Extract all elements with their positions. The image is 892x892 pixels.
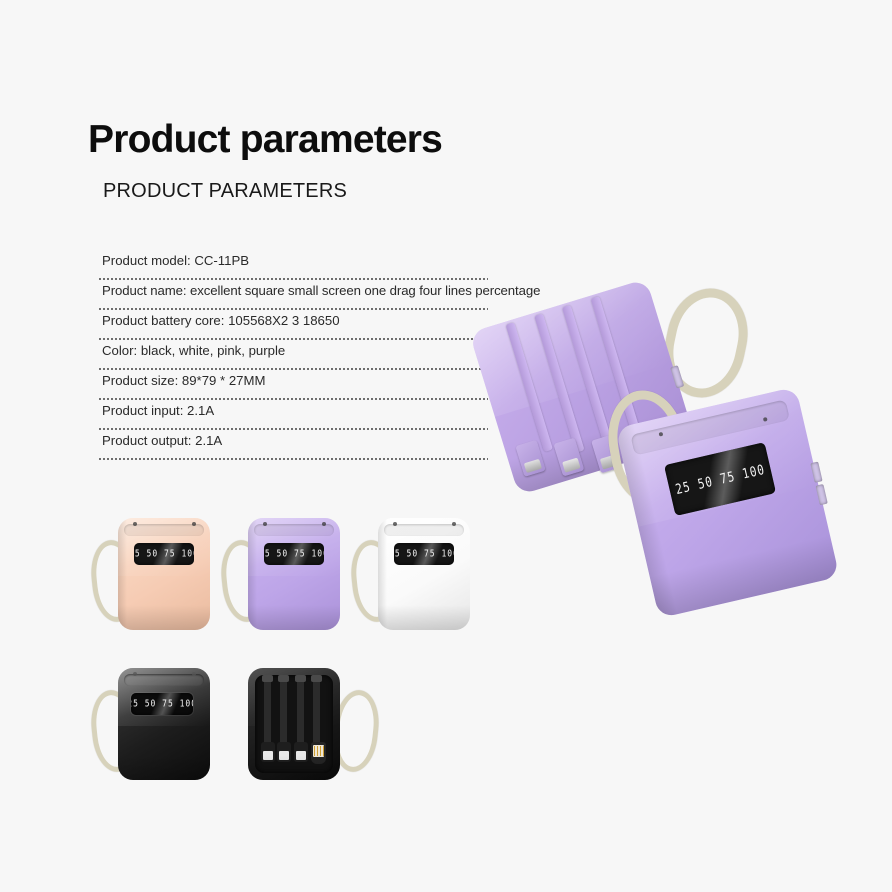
connector-tip-gold-usb: [311, 742, 326, 764]
product-body: 25 50 75 100: [248, 518, 340, 630]
page-subtitle: PRODUCT PARAMETERS: [103, 180, 347, 203]
hero-product-photo: 25 50 75 100: [470, 280, 890, 680]
spec-battery-core: Product battery core: 105568X2 3 18650: [98, 310, 488, 332]
page-title: Product parameters: [88, 118, 442, 162]
left-shading: [615, 424, 677, 618]
battery-percentage-display: 25 50 75 100: [664, 442, 777, 517]
product-unit-front-purple: 25 50 75 100: [615, 387, 839, 619]
connector-tip-silver: [277, 742, 291, 762]
spec-row: Product battery core: 105568X2 3 18650: [98, 310, 488, 340]
bottom-shading: [248, 605, 340, 630]
battery-percentage-display: 25 50 75 100: [394, 543, 455, 565]
spec-size: Product size: 89*79 * 27MM: [98, 370, 488, 392]
product-body: 25 50 75 100: [615, 387, 839, 619]
bottom-shading: [378, 605, 470, 630]
spec-row: Color: black, white, pink, purple: [98, 340, 488, 370]
anchor-notch: [295, 675, 306, 682]
spec-divider: [98, 458, 488, 460]
anchor-notch: [262, 675, 273, 682]
product-variant-white: 25 50 75 100: [378, 518, 470, 630]
product-body: 25 50 75 100: [118, 668, 210, 780]
cable-channel: [264, 678, 271, 747]
product-variant-black-rear: [248, 668, 340, 780]
product-body: 25 50 75 100: [378, 518, 470, 630]
spec-name: Product name: excellent square small scr…: [98, 280, 488, 302]
battery-percentage-display: 25 50 75 100: [264, 543, 325, 565]
display-readout: 25 50 75 100: [131, 698, 194, 709]
spec-row: Product name: excellent square small scr…: [98, 280, 488, 310]
spec-output: Product output: 2.1A: [98, 430, 488, 452]
spec-row: Product size: 89*79 * 27MM: [98, 370, 488, 400]
cable-channel: [313, 678, 320, 747]
connector-tip-silver: [294, 742, 308, 762]
specification-list: Product model: CC-11PB Product name: exc…: [98, 250, 488, 460]
bottom-shading: [118, 755, 210, 780]
spec-model: Product model: CC-11PB: [98, 250, 488, 272]
display-readout: 25 50 75 100: [134, 548, 195, 559]
battery-percentage-display: 25 50 75 100: [134, 543, 195, 565]
bottom-shading: [650, 535, 840, 618]
spec-input: Product input: 2.1A: [98, 400, 488, 422]
product-body: 25 50 75 100: [118, 518, 210, 630]
display-readout: 25 50 75 100: [674, 461, 767, 497]
cable-channel: [280, 678, 287, 747]
anchor-notch: [278, 675, 289, 682]
spec-row: Product output: 2.1A: [98, 430, 488, 460]
product-variant-pink: 25 50 75 100: [118, 518, 210, 630]
anchor-notch: [311, 675, 322, 682]
product-variant-black-front: 25 50 75 100: [118, 668, 210, 780]
product-variant-purple: 25 50 75 100: [248, 518, 340, 630]
spec-color: Color: black, white, pink, purple: [98, 340, 488, 362]
bottom-shading: [118, 605, 210, 630]
display-readout: 25 50 75 100: [264, 548, 325, 559]
cable-channel: [297, 678, 304, 747]
spec-row: Product model: CC-11PB: [98, 250, 488, 280]
product-body: [248, 668, 340, 780]
connector-tip-silver: [261, 742, 275, 762]
spec-row: Product input: 2.1A: [98, 400, 488, 430]
display-readout: 25 50 75 100: [394, 548, 455, 559]
anchor-dot: [658, 432, 663, 437]
battery-percentage-display: 25 50 75 100: [131, 693, 194, 715]
